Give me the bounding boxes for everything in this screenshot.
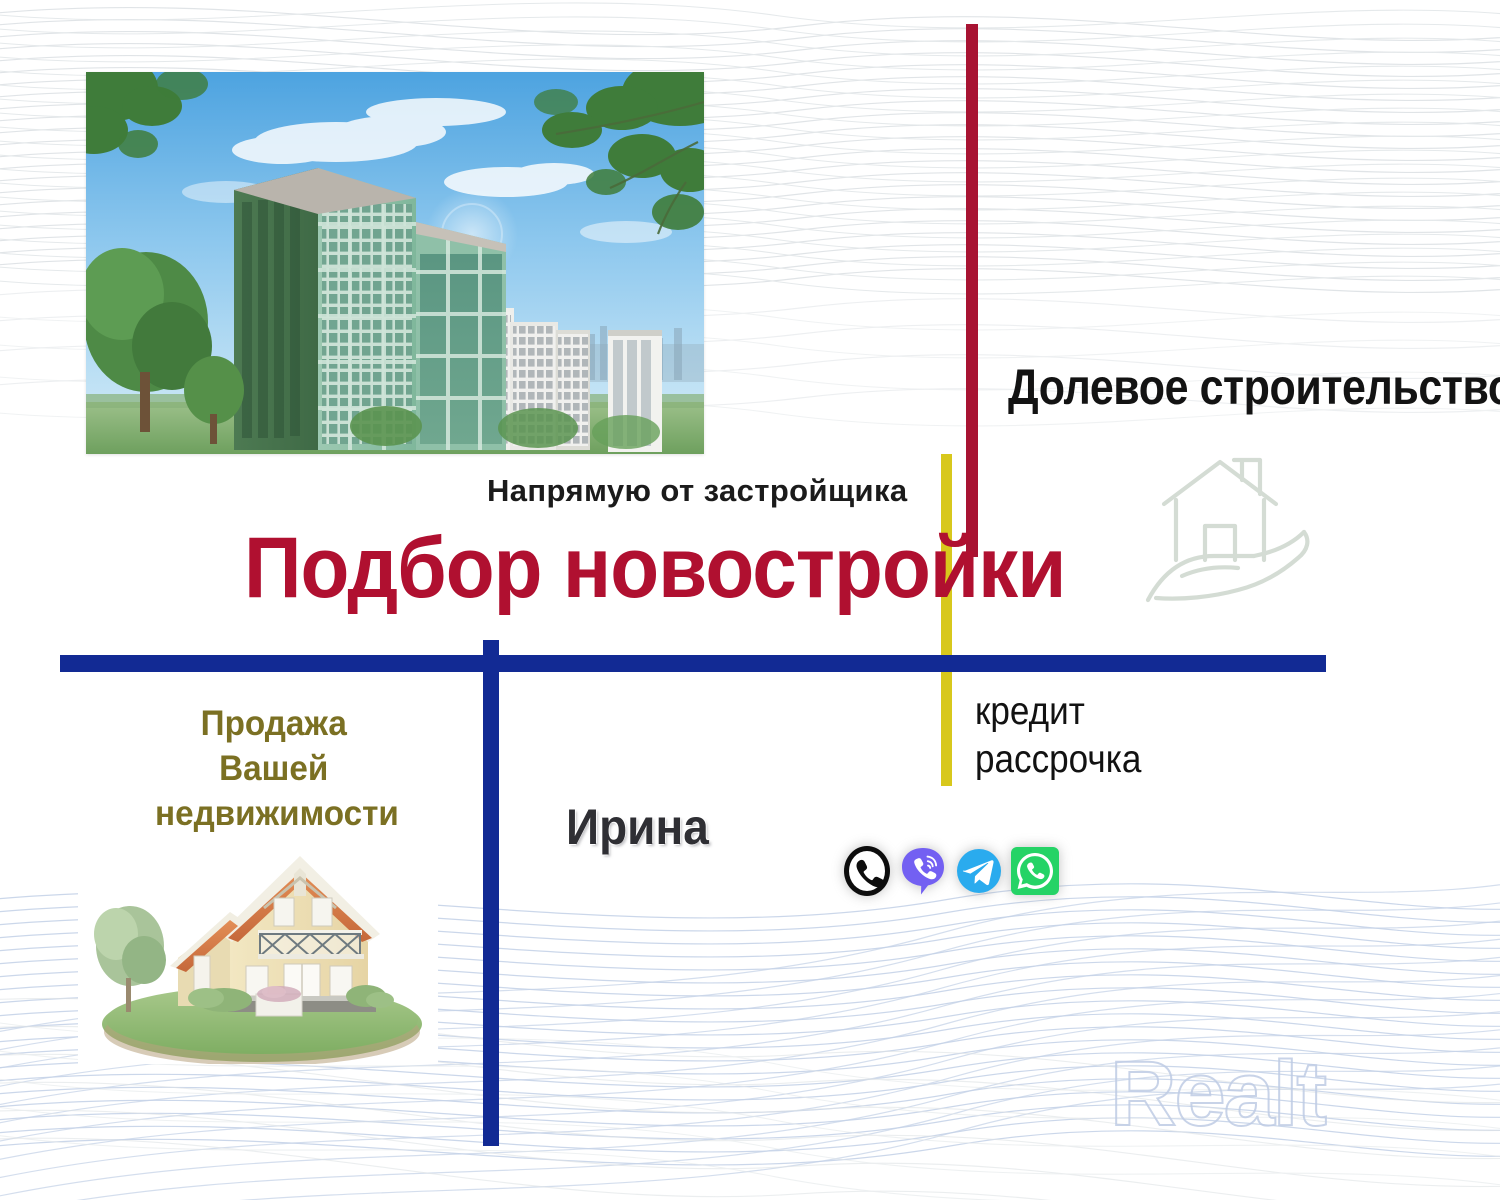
cottage-photo: Загородный дом с балконом на зелёной луж… [78, 838, 438, 1064]
sale-line-1: Продажа Вашей [201, 704, 347, 788]
poster-canvas: Жилой комплекс новостроек, зелёные высот… [0, 0, 1500, 1200]
agent-name: Ирина [566, 798, 709, 856]
divider-vertical-crimson [966, 24, 978, 557]
house-in-hand-icon: Контурная иконка: дом на ладони [1142, 452, 1318, 608]
kicker-direct-from-developer: Напрямую от застройщика [487, 473, 908, 509]
phone-icon[interactable]: Телефон [841, 845, 893, 897]
whatsapp-icon[interactable]: WhatsApp [1009, 845, 1061, 897]
financing-block: кредит рассрочка [975, 688, 1141, 785]
new-buildings-photo: Жилой комплекс новостроек, зелёные высот… [86, 72, 704, 454]
sale-line-2: недвижимости [155, 794, 399, 833]
divider-vertical-blue [483, 640, 499, 1146]
telegram-icon[interactable]: Telegram [953, 845, 1005, 897]
contact-icons-row[interactable]: Телефон Viber Telegram WhatsApp [841, 845, 1061, 897]
divider-vertical-yellow [941, 454, 952, 786]
divider-horizontal-blue [60, 655, 1326, 672]
sale-of-your-property-block: Продажа Вашей недвижимости [155, 702, 393, 836]
page-title: Подбор новостройки [244, 525, 1065, 611]
realt-watermark: Realt [1110, 1042, 1325, 1147]
viber-icon[interactable]: Viber [897, 845, 949, 897]
financing-line-credit: кредит [975, 690, 1085, 733]
financing-line-installment: рассрочка [975, 738, 1141, 781]
heading-share-construction: Долевое строительство [1008, 362, 1500, 412]
